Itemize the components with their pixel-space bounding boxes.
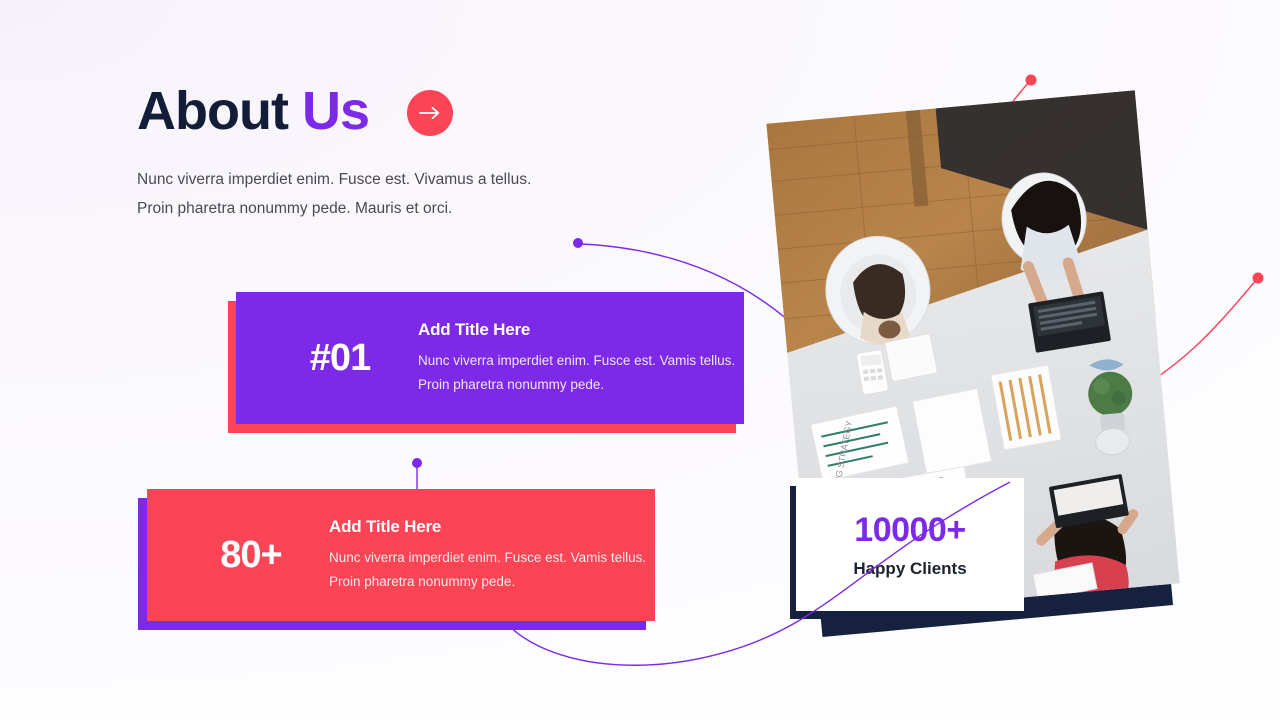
card-02-title: Add Title Here xyxy=(329,517,655,537)
page-heading: About Us xyxy=(137,84,453,138)
red-dot-right xyxy=(1253,273,1264,284)
card-02-number: 80+ xyxy=(181,534,321,577)
card-01-body: #01 Add Title Here Nunc viverra imperdie… xyxy=(236,292,744,424)
stat-card-happy-clients[interactable]: 10000+ Happy Clients xyxy=(796,478,1024,611)
card-01-text: Add Title Here Nunc viverra imperdiet en… xyxy=(410,320,744,395)
page-title-accent: Us xyxy=(302,81,369,141)
feature-card-01[interactable]: #01 Add Title Here Nunc viverra imperdie… xyxy=(236,292,744,424)
card-02-text: Add Title Here Nunc viverra imperdiet en… xyxy=(321,517,655,592)
card-01-title: Add Title Here xyxy=(418,320,744,340)
page-title: About Us xyxy=(137,84,369,138)
purple-dot-mid xyxy=(412,458,422,468)
purple-dot-top xyxy=(573,238,583,248)
card-02-description: Nunc viverra imperdiet enim. Fusce est. … xyxy=(329,546,655,592)
arrow-right-icon xyxy=(419,106,441,120)
slide-canvas: About Us Nunc viverra imperdiet enim. Fu… xyxy=(0,0,1280,720)
card-02-body: 80+ Add Title Here Nunc viverra imperdie… xyxy=(147,489,655,621)
card-01-description: Nunc viverra imperdiet enim. Fusce est. … xyxy=(418,349,744,395)
stat-label: Happy Clients xyxy=(853,559,966,579)
stat-card-body: 10000+ Happy Clients xyxy=(796,478,1024,611)
page-title-main: About xyxy=(137,81,288,141)
feature-card-02[interactable]: 80+ Add Title Here Nunc viverra imperdie… xyxy=(147,489,655,621)
page-subtitle: Nunc viverra imperdiet enim. Fusce est. … xyxy=(137,166,557,223)
stat-value: 10000+ xyxy=(854,511,965,550)
arrow-right-button[interactable] xyxy=(407,90,453,136)
card-01-number: #01 xyxy=(270,337,410,380)
